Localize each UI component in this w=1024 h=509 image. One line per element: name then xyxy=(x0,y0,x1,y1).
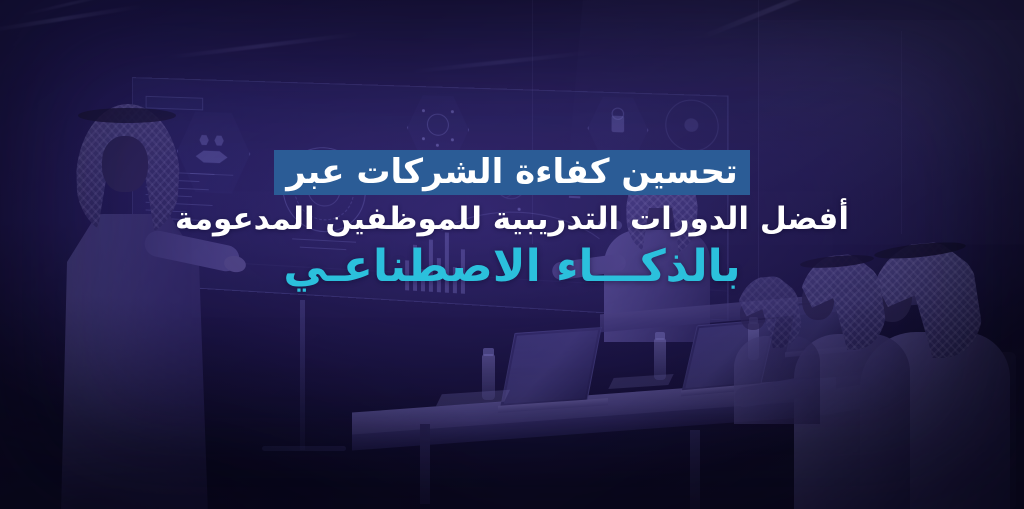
headline-highlight-bar: تحسين كفاءة الشركات عبر xyxy=(274,150,749,195)
headline-block: تحسين كفاءة الشركات عبر أفضل الدورات الت… xyxy=(0,150,1024,290)
hero-banner: تحسين كفاءة الشركات عبر أفضل الدورات الت… xyxy=(0,0,1024,509)
headline-line-2: أفضل الدورات التدريبية للموظفين المدعومة xyxy=(0,204,1024,235)
headline-line-3: بالذكـــاء الاصطناعـي xyxy=(232,245,792,290)
headline-line-1: تحسين كفاءة الشركات عبر xyxy=(0,150,1024,195)
